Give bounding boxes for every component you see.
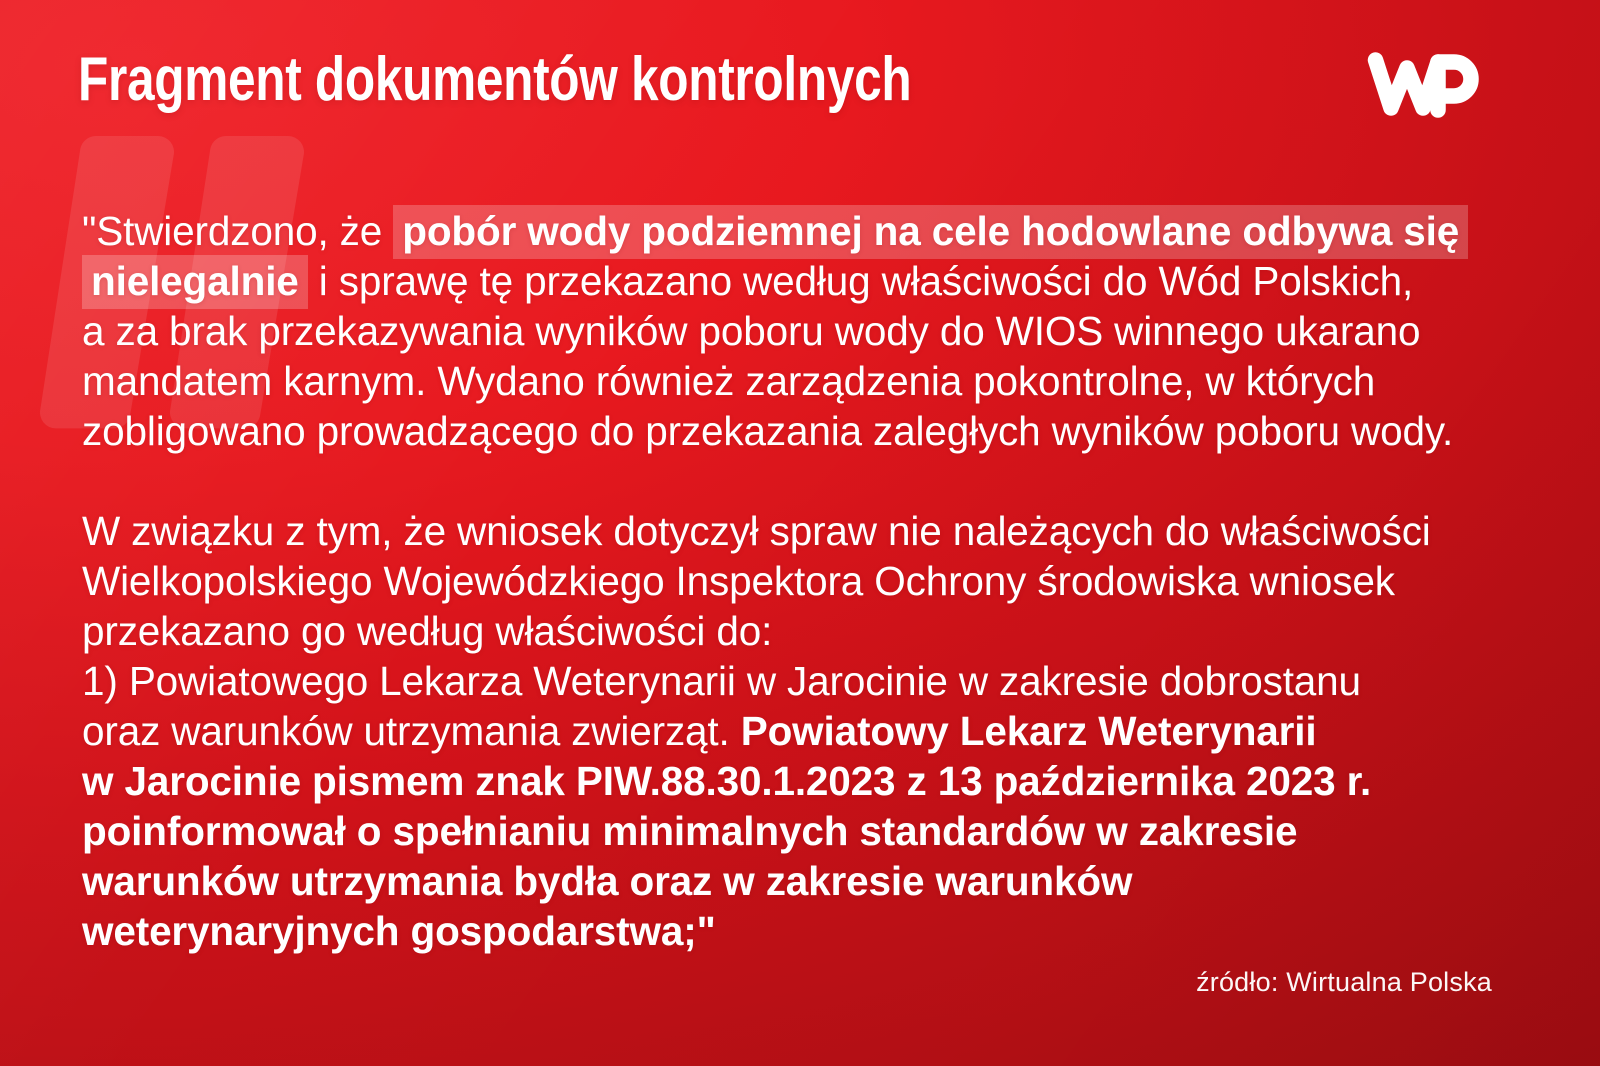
p1-line-2-plain: i sprawę tę przekazano według właściwośc…: [308, 258, 1413, 304]
p1-line-1: "Stwierdzono, że pobór wody podziemnej n…: [82, 205, 1468, 259]
p2-line-5-bold: Powiatowy Lekarz Weterynarii: [741, 708, 1317, 754]
p2-line-3: przekazano go według właściwości do:: [82, 608, 772, 654]
paragraph-1: "Stwierdzono, że pobór wody podziemnej n…: [82, 206, 1482, 456]
wp-logo-icon: [1366, 48, 1482, 122]
quote-body: "Stwierdzono, że pobór wody podziemnej n…: [82, 206, 1482, 956]
p1-line-1-plain: "Stwierdzono, że: [82, 208, 393, 254]
p2-line-9-bold: weterynaryjnych gospodarstwa;": [82, 908, 716, 954]
card-header: Fragment dokumentów kontrolnych: [0, 44, 1600, 124]
p2-line-6-bold: w Jarocinie pismem znak PIW.88.30.1.2023…: [82, 758, 1371, 804]
p2-line-2: Wielkopolskiego Wojewódzkiego Inspektora…: [82, 558, 1395, 604]
p2-line-5: oraz warunków utrzymania zwierząt. Powia…: [82, 708, 1317, 754]
p2-line-5-plain: oraz warunków utrzymania zwierząt.: [82, 708, 741, 754]
p2-line-4-list-item: 1) Powiatowego Lekarza Weterynarii w Jar…: [82, 658, 1361, 704]
source-credit: źródło: Wirtualna Polska: [1196, 966, 1492, 998]
p2-line-1: W związku z tym, że wniosek dotyczył spr…: [82, 508, 1431, 554]
infographic-card: Fragment dokumentów kontrolnych "Stwierd…: [0, 0, 1600, 1066]
p1-line-4: mandatem karnym. Wydano również zarządze…: [82, 358, 1375, 404]
highlight-phrase-2: nielegalnie: [82, 255, 308, 309]
p1-line-5: zobligowano prowadzącego do przekazania …: [82, 408, 1453, 454]
highlight-phrase-1: pobór wody podziemnej na cele hodowlane …: [393, 205, 1468, 259]
p1-line-2: nielegalnie i sprawę tę przekazano wedłu…: [82, 255, 1413, 309]
paragraph-2: W związku z tym, że wniosek dotyczył spr…: [82, 506, 1482, 956]
p1-line-3: a za brak przekazywania wyników poboru w…: [82, 308, 1420, 354]
p2-line-8-bold: warunków utrzymania bydła oraz w zakresi…: [82, 858, 1132, 904]
paragraph-spacer: [82, 456, 1482, 506]
page-title: Fragment dokumentów kontrolnych: [78, 44, 911, 116]
p2-line-7-bold: poinformował o spełnianiu minimalnych st…: [82, 808, 1297, 854]
